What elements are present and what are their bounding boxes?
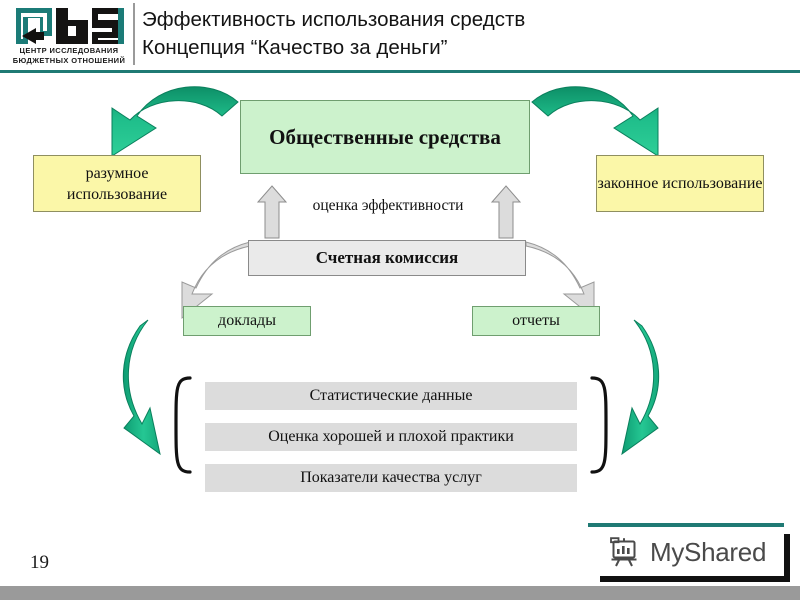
node-source-quality[interactable]: Показатели качества услуг — [205, 464, 577, 492]
node-public-funds[interactable]: Общественные средства — [240, 100, 530, 174]
logo-caption-line2: БЮДЖЕТНЫХ ОТНОШЕНИЙ — [8, 56, 130, 66]
node-source-statistics[interactable]: Статистические данные — [205, 382, 577, 410]
node-lawful-use[interactable]: законное использование — [596, 155, 764, 212]
presentation-chart-icon — [608, 535, 642, 569]
bracket-left — [176, 378, 190, 472]
arrow-sources-to-reports2 — [622, 320, 659, 454]
brand-logo[interactable]: MyShared — [594, 528, 784, 576]
slide-header: ЦЕНТР ИССЛЕДОВАНИЯ БЮДЖЕТНЫХ ОТНОШЕНИЙ Э… — [0, 0, 800, 72]
node-source-statistics-label: Статистические данные — [310, 387, 473, 405]
node-reasonable-use[interactable]: разумное использование — [33, 155, 201, 212]
bracket-right — [592, 378, 606, 472]
node-reasonable-use-label: разумное использование — [34, 163, 200, 205]
node-source-practice[interactable]: Оценка хорошей и плохой практики — [205, 423, 577, 451]
page-number: 19 — [30, 552, 49, 574]
node-output-statements[interactable]: отчеты — [472, 306, 600, 336]
footer-bar — [0, 586, 800, 600]
arrow-eval-left — [258, 186, 286, 238]
node-source-quality-label: Показатели качества услуг — [300, 469, 482, 487]
logo-caption: ЦЕНТР ИССЛЕДОВАНИЯ БЮДЖЕТНЫХ ОТНОШЕНИЙ — [8, 46, 130, 66]
header-divider — [133, 3, 135, 65]
node-source-practice-label: Оценка хорошей и плохой практики — [268, 428, 514, 446]
node-output-statements-label: отчеты — [512, 312, 560, 330]
node-output-reports-label: доклады — [218, 312, 276, 330]
logo-caption-line1: ЦЕНТР ИССЛЕДОВАНИЯ — [8, 46, 130, 56]
rbc-logo-icon — [14, 6, 126, 46]
node-lawful-use-label: законное использование — [598, 173, 763, 194]
arrow-public-to-lawful — [532, 87, 658, 156]
arrow-public-to-reasonable — [112, 87, 238, 156]
node-public-funds-label: Общественные средства — [269, 124, 501, 151]
node-commission[interactable]: Счетная комиссия — [248, 240, 526, 276]
page-title-line2: Концепция “Качество за деньги” — [142, 34, 782, 62]
brand-accent-rule — [588, 523, 784, 527]
arrow-sources-to-reports1 — [123, 320, 160, 454]
brand-name: MyShared — [650, 537, 766, 568]
node-output-reports[interactable]: доклады — [183, 306, 311, 336]
page-title: Эффективность использования средств Конц… — [142, 6, 782, 62]
label-evaluation: оценка эффективности — [288, 194, 488, 218]
page-title-line1: Эффективность использования средств — [142, 6, 782, 34]
label-evaluation-text: оценка эффективности — [313, 197, 464, 215]
diagram-canvas: Общественные средства разумное использов… — [0, 72, 800, 527]
organization-logo: ЦЕНТР ИССЛЕДОВАНИЯ БЮДЖЕТНЫХ ОТНОШЕНИЙ — [8, 4, 130, 68]
arrow-eval-right — [492, 186, 520, 238]
node-commission-label: Счетная комиссия — [316, 248, 458, 268]
